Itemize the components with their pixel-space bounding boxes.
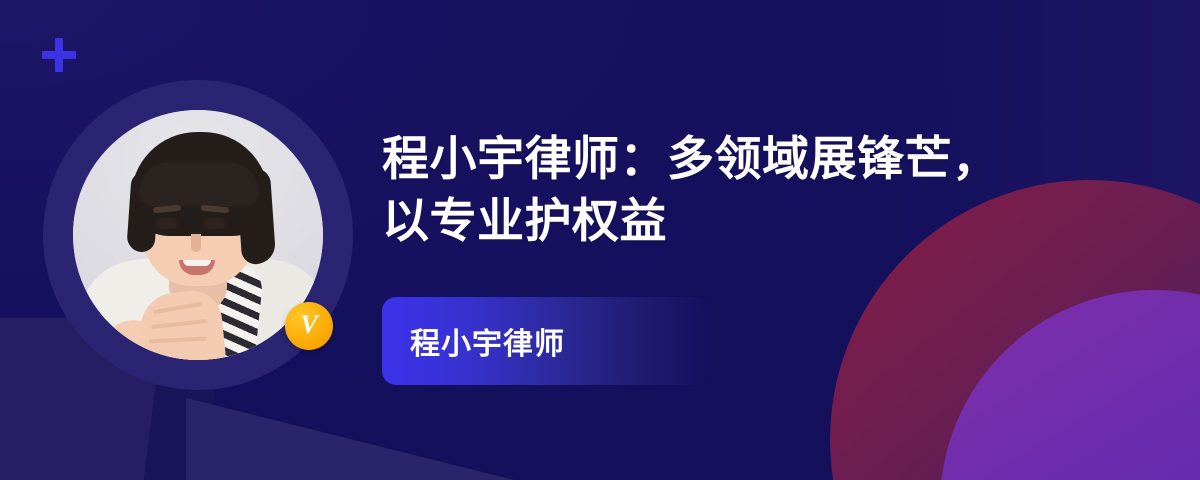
verified-badge-icon: V — [285, 302, 333, 350]
portrait-eye-left — [156, 218, 178, 229]
plus-icon — [42, 38, 76, 72]
plus-icon-vertical-bar — [55, 38, 63, 72]
portrait-eye-right — [204, 218, 226, 229]
content-column: 程小宇律师：多领域展锋芒，以专业护权益 程小宇律师 — [382, 128, 1082, 252]
decorative-triangle — [186, 398, 546, 480]
portrait-bangs — [139, 162, 259, 206]
author-name-button[interactable]: 程小宇律师 — [382, 297, 712, 385]
page-title: 程小宇律师：多领域展锋芒，以专业护权益 — [382, 128, 1022, 252]
decorative-circle-purple — [940, 290, 1200, 480]
portrait-teeth — [183, 260, 211, 266]
avatar[interactable]: V — [43, 80, 353, 390]
verified-badge-label: V — [300, 312, 317, 338]
promo-banner: V 程小宇律师：多领域展锋芒，以专业护权益 程小宇律师 — [0, 0, 1200, 480]
portrait-nose — [191, 234, 201, 252]
